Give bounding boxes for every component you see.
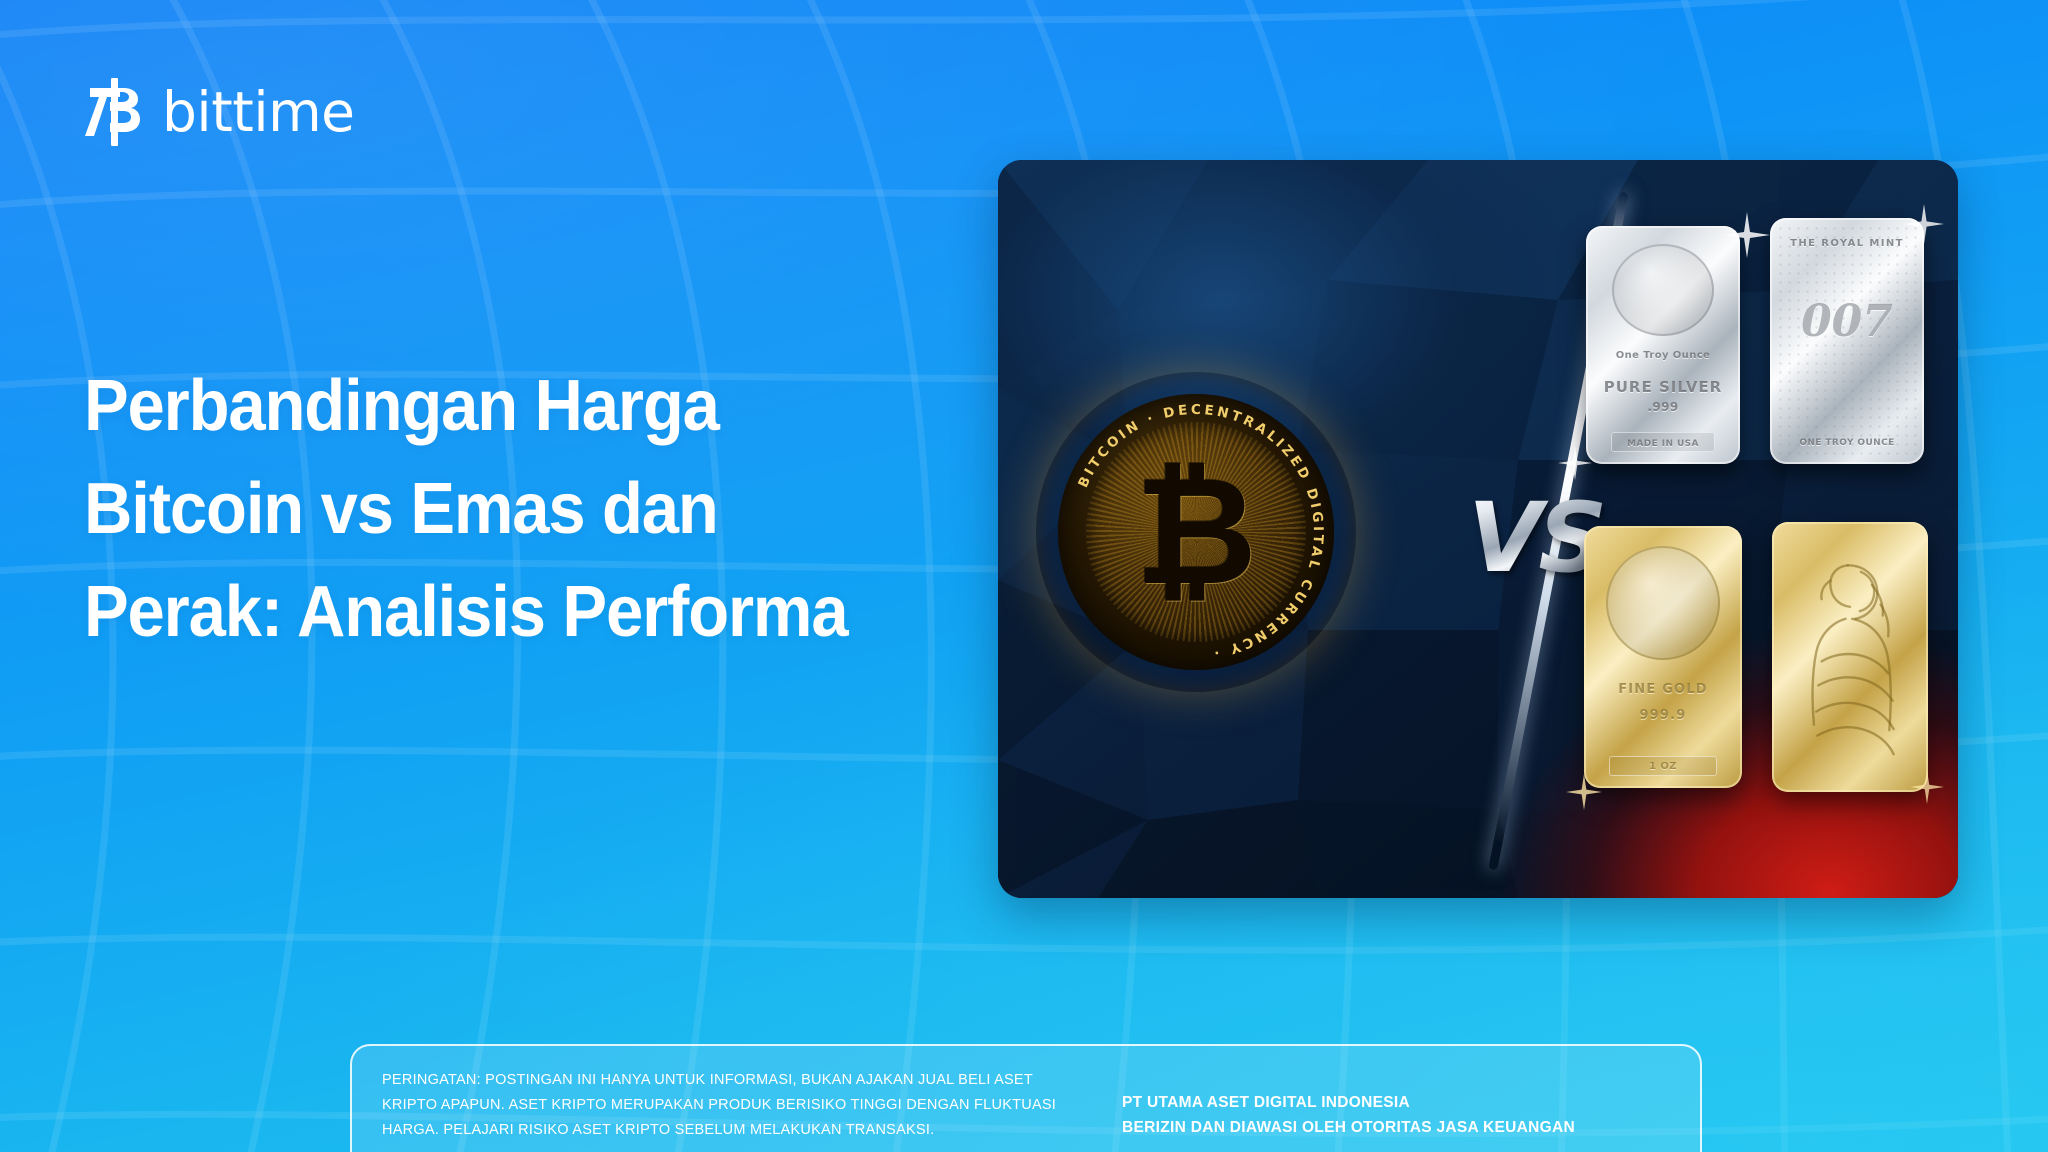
page-title-line-2: Bitcoin vs Emas dan [84, 458, 902, 561]
hero-image-card: BITCOIN · DECENTRALIZED DIGITAL CURRENCY… [998, 160, 1958, 898]
silver-bar-top-right: THE ROYAL MINT 007 ONE TROY OUNCE [1770, 218, 1924, 464]
company-line-1: PT UTAMA ASET DIGITAL INDONESIA [1122, 1090, 1575, 1115]
gold-bar-bottom-left: FINE GOLD 999.9 1 OZ [1584, 526, 1742, 788]
footer-disclaimer-panel: PERINGATAN: POSTINGAN INI HANYA UNTUK IN… [350, 1044, 1702, 1152]
silver-bar-1-stamp: MADE IN USA [1586, 439, 1740, 449]
bitcoin-b-icon [84, 78, 146, 146]
disclaimer-text: PERINGATAN: POSTINGAN INI HANYA UNTUK IN… [382, 1068, 1082, 1143]
gold-bar-1-line2: 999.9 [1584, 708, 1742, 723]
silver-bar-1-line2: PURE SILVER [1586, 378, 1740, 396]
silver-bar-1-line3: .999 [1586, 400, 1740, 414]
brand-name: bittime [162, 85, 355, 140]
company-line-2: BERIZIN DAN DIAWASI OLEH OTORITAS JASA K… [1122, 1115, 1575, 1140]
gold-bar-1-stamp: 1 OZ [1584, 761, 1742, 772]
company-info: PT UTAMA ASET DIGITAL INDONESIA BERIZIN … [1122, 1068, 1575, 1140]
page-title: Perbandingan Harga Bitcoin vs Emas dan P… [84, 355, 902, 664]
bitcoin-coin-icon: BITCOIN · DECENTRALIZED DIGITAL CURRENCY… [1036, 372, 1356, 692]
silver-bar-top-left: One Troy Ounce PURE SILVER .999 MADE IN … [1586, 226, 1740, 464]
gold-bar-1-line1: FINE GOLD [1584, 682, 1742, 697]
page-title-line-3: Perak: Analisis Performa [84, 561, 902, 664]
silver-bar-1-line1: One Troy Ounce [1586, 350, 1740, 361]
circular-seal-medallion-icon [1606, 546, 1720, 660]
007-logo-icon: 007 [1770, 296, 1924, 347]
bitcoin-symbol: ₿ [1036, 372, 1356, 692]
lady-fortuna-relief-icon [1784, 541, 1915, 773]
silver-bar-2-stamp: ONE TROY OUNCE [1770, 438, 1924, 448]
brand-logo[interactable]: bittime [84, 78, 355, 146]
gold-bar-bottom-right [1772, 522, 1928, 792]
page-title-line-1: Perbandingan Harga [84, 355, 902, 458]
silver-bar-2-line1: THE ROYAL MINT [1770, 238, 1924, 249]
liberty-head-medallion-icon [1612, 244, 1714, 336]
